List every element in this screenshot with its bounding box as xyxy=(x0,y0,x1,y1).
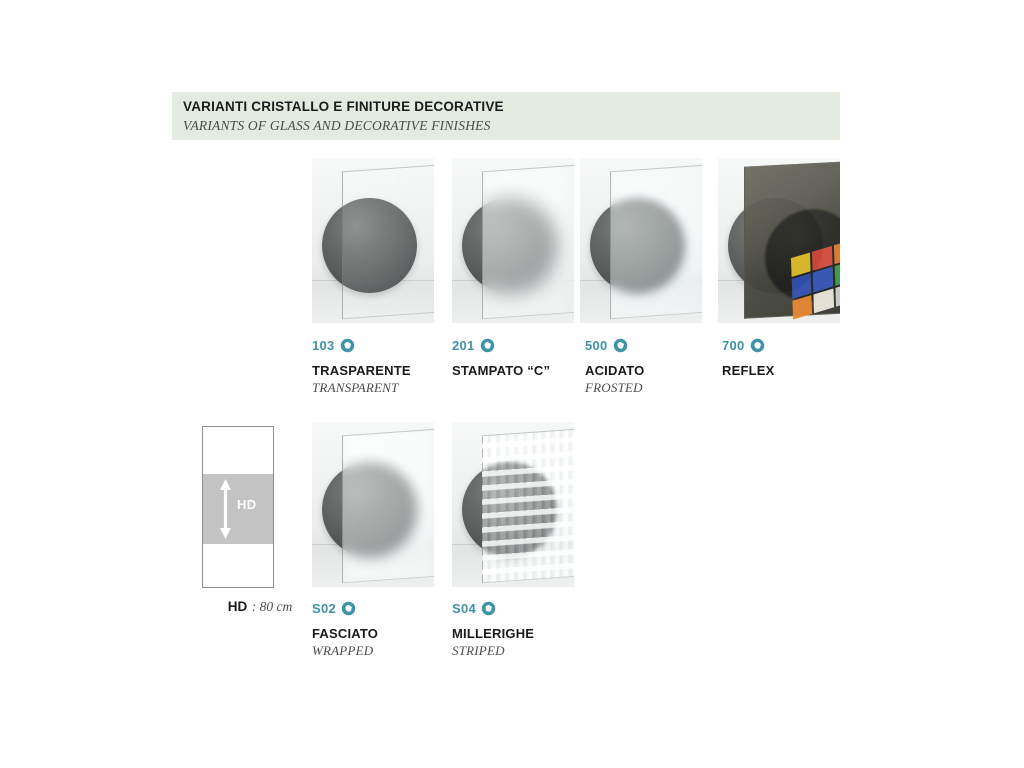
sample-code: 500 xyxy=(585,338,608,353)
code-row: S04 xyxy=(452,599,602,617)
section-header-band: VARIANTI CRISTALLO E FINITURE DECORATIVE… xyxy=(172,92,840,140)
sample-image-103[interactable] xyxy=(312,158,434,323)
swatch xyxy=(835,282,840,307)
sample-caption-S02: S02 FASCIATO WRAPPED xyxy=(312,599,462,659)
sample-name-en: STRIPED xyxy=(452,643,602,659)
glass-pane-stampato xyxy=(482,165,574,320)
glass-pane-acidato xyxy=(610,165,702,320)
glass-sample-scene xyxy=(718,158,840,323)
sample-code: S04 xyxy=(452,601,476,616)
sample-name-it: ACIDATO xyxy=(585,363,735,378)
glass-sample-scene xyxy=(580,158,702,323)
code-row: 500 xyxy=(585,336,735,354)
sample-image-500[interactable] xyxy=(580,158,702,323)
glass-finish-icon xyxy=(341,601,356,616)
code-row: 700 xyxy=(722,336,872,354)
code-row: 103 xyxy=(312,336,462,354)
swatch xyxy=(814,288,834,313)
hd-caption: HD : 80 cm xyxy=(190,598,330,616)
sample-caption-103: 103 TRASPARENTE TRANSPARENT xyxy=(312,336,462,396)
sample-name-en: TRANSPARENT xyxy=(312,380,462,396)
hd-dimension-diagram: HD xyxy=(202,426,274,588)
glass-finish-icon xyxy=(613,338,628,353)
sample-caption-500: 500 ACIDATO FROSTED xyxy=(585,336,735,396)
sample-name-it: MILLERIGHE xyxy=(452,626,602,641)
hd-caption-value: : 80 cm xyxy=(252,599,293,614)
page-title: VARIANTI CRISTALLO E FINITURE DECORATIVE xyxy=(183,99,840,115)
sample-image-S02[interactable] xyxy=(312,422,434,587)
glass-pane-transparent xyxy=(342,165,434,320)
code-row: 201 xyxy=(452,336,602,354)
glass-pane-millerighe xyxy=(482,429,574,584)
hd-band-label: HD xyxy=(237,497,257,512)
glass-finish-icon xyxy=(480,338,495,353)
glass-sample-scene xyxy=(312,158,434,323)
page-canvas: VARIANTI CRISTALLO E FINITURE DECORATIVE… xyxy=(0,0,1024,768)
hd-caption-key: HD xyxy=(228,599,248,614)
glass-pane-reflex xyxy=(744,161,840,318)
page-subtitle: VARIANTS OF GLASS AND DECORATIVE FINISHE… xyxy=(183,117,840,134)
sample-code: 700 xyxy=(722,338,745,353)
glass-sample-scene xyxy=(452,422,574,587)
glass-finish-icon xyxy=(481,601,496,616)
code-row: S02 xyxy=(312,599,462,617)
sample-name-it: STAMPATO “C” xyxy=(452,363,602,378)
sample-code: S02 xyxy=(312,601,336,616)
sample-name-it: FASCIATO xyxy=(312,626,462,641)
sample-caption-201: 201 STAMPATO “C” xyxy=(452,336,602,380)
sample-image-700[interactable] xyxy=(718,158,840,323)
sample-code: 201 xyxy=(452,338,475,353)
sample-image-201[interactable] xyxy=(452,158,574,323)
glass-finish-icon xyxy=(750,338,765,353)
glass-sample-scene xyxy=(452,158,574,323)
sample-name-en: FROSTED xyxy=(585,380,735,396)
sample-code: 103 xyxy=(312,338,335,353)
sample-name-it: TRASPARENTE xyxy=(312,363,462,378)
sample-caption-700: 700 REFLEX xyxy=(722,336,872,380)
sample-name-en: WRAPPED xyxy=(312,643,462,659)
sample-name-it: REFLEX xyxy=(722,363,872,378)
hd-double-arrow-icon xyxy=(219,479,232,539)
sample-image-S04[interactable] xyxy=(452,422,574,587)
glass-sample-scene xyxy=(312,422,434,587)
glass-pane-fasciato xyxy=(342,429,434,584)
swatch xyxy=(834,261,840,286)
glass-finish-icon xyxy=(340,338,355,353)
sample-caption-S04: S04 MILLERIGHE STRIPED xyxy=(452,599,602,659)
